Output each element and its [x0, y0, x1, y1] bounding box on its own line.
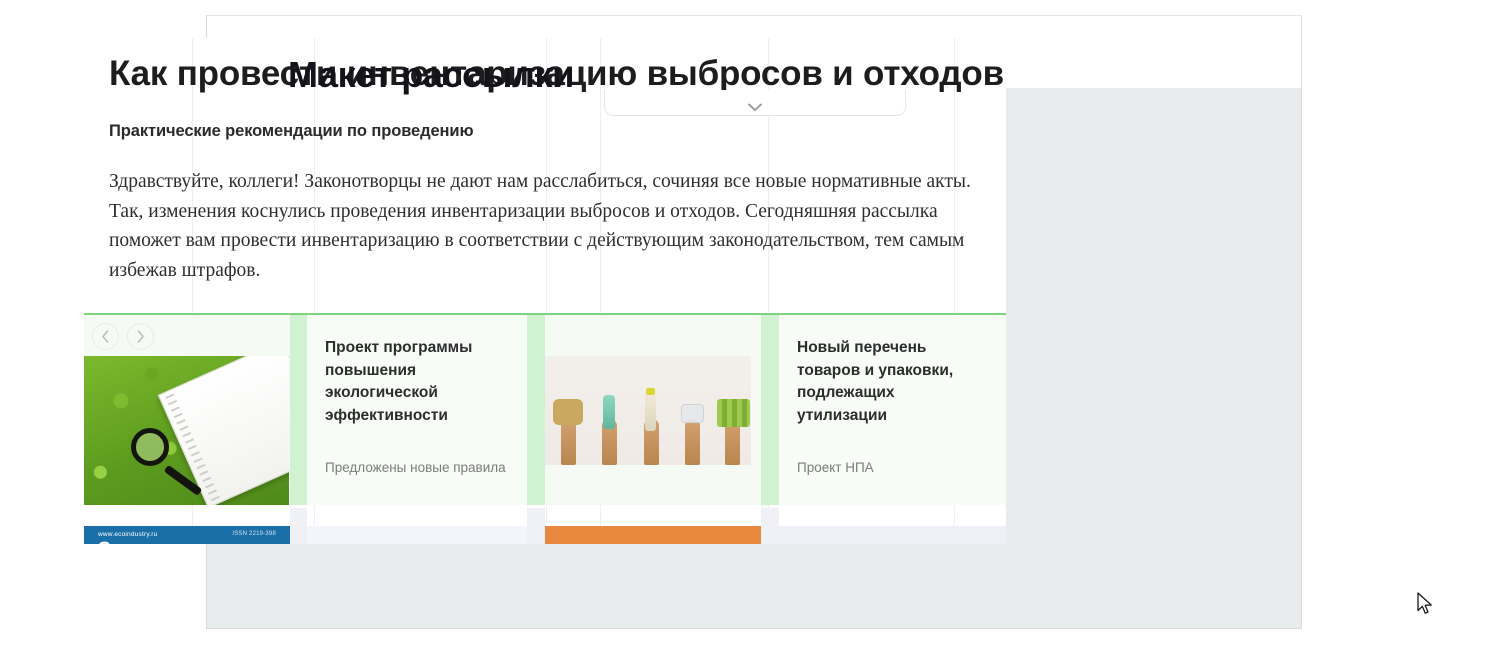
banner-url-label: www.ecoindustry.ru — [98, 531, 157, 538]
column-gutter — [761, 508, 779, 544]
mouse-cursor — [1417, 592, 1434, 616]
placeholder-block — [307, 526, 527, 544]
held-item-paper — [553, 399, 583, 425]
carousel-prev-button[interactable] — [92, 323, 119, 350]
notebook-graphic — [158, 356, 289, 505]
chevron-right-icon — [136, 330, 145, 343]
card-1-photo — [84, 356, 289, 505]
collapse-toggle-bar[interactable] — [604, 90, 906, 116]
held-item-bottle — [645, 393, 656, 431]
chevron-down-icon — [748, 103, 762, 112]
held-item-cap — [646, 388, 655, 395]
held-item-cup — [681, 404, 704, 423]
card-1-image-cell[interactable] — [84, 315, 290, 505]
orange-banner — [545, 526, 761, 544]
footer-cell-2[interactable] — [307, 508, 527, 544]
footer-cell-4[interactable] — [779, 508, 1006, 544]
email-body-paragraph: Здравствуйте, коллеги! Законотворцы не д… — [109, 141, 981, 285]
card-subtitle: Предложены новые правила — [325, 460, 509, 475]
footer-cell-3[interactable] — [545, 508, 761, 544]
placeholder-block — [779, 526, 1006, 544]
card-subtitle: Проект НПА — [797, 460, 988, 475]
hand-graphic — [561, 419, 576, 465]
column-gutter — [527, 315, 545, 505]
footer-banner-cell[interactable]: www.ecoindustry.ru ISSN 2219-398 Экологи… — [84, 508, 290, 544]
card-2-text-cell[interactable]: Новый перечень товаров и упаковки, подле… — [779, 315, 1006, 505]
column-gutter — [761, 315, 779, 505]
held-item-bottle — [603, 395, 615, 429]
page-title: Макет рассылки — [288, 54, 574, 96]
column-gutter — [290, 508, 307, 544]
card-title: Проект программы повышения экологической… — [325, 337, 509, 427]
carousel-next-button[interactable] — [127, 323, 154, 350]
cards-row: Проект программы повышения экологической… — [84, 315, 1006, 505]
banner-title-label: Экология — [98, 539, 186, 544]
hand-graphic — [685, 419, 700, 465]
card-2-photo — [545, 356, 751, 465]
chevron-left-icon — [101, 330, 110, 343]
card-1-text-cell[interactable]: Проект программы повышения экологической… — [307, 315, 527, 505]
carousel-nav — [92, 323, 154, 350]
column-gutter — [290, 315, 307, 505]
screen: Макет рассылки Как провести инвентаризац… — [0, 0, 1494, 651]
magnifier-graphic — [131, 428, 169, 466]
footer-preview-row: www.ecoindustry.ru ISSN 2219-398 Экологи… — [84, 508, 1006, 544]
card-title: Новый перечень товаров и упаковки, подле… — [797, 337, 988, 427]
ecoindustry-banner: www.ecoindustry.ru ISSN 2219-398 Экологи… — [84, 526, 290, 544]
held-item-crate — [717, 399, 750, 427]
card-2-image-cell[interactable] — [545, 315, 761, 505]
cards-divider — [84, 313, 1006, 315]
banner-code-label: ISSN 2219-398 — [232, 531, 276, 537]
column-gutter — [527, 508, 545, 544]
